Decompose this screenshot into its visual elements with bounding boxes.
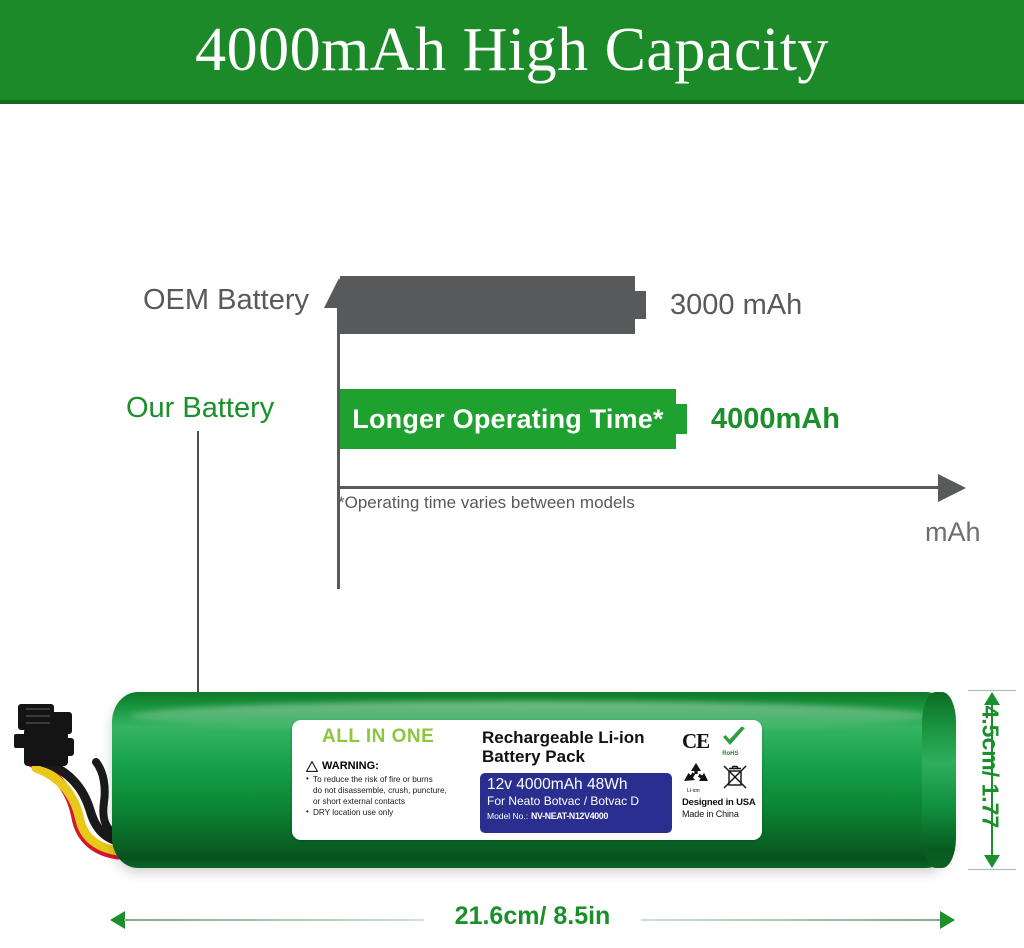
designed-in-label: Designed in USA <box>682 797 760 808</box>
weee-crossed-bin-icon <box>722 764 748 790</box>
spec-capacity: 12v 4000mAh 48Wh <box>487 776 666 794</box>
spec-compatibility: For Neato Botvac / Botvac D <box>487 794 666 809</box>
product-title-line1: Rechargeable Li-ion <box>482 728 644 747</box>
callout-leader-line <box>197 431 199 708</box>
dimension-height-arrow-top-icon <box>984 692 1000 705</box>
made-in-label: Made in China <box>682 809 760 819</box>
certification-marks: CE RoHS <box>682 726 760 838</box>
model-label: Model No.: <box>487 811 528 821</box>
chart-bar-our-body: Longer Operating Time* <box>340 389 676 449</box>
warning-line: or short external contacts <box>313 797 472 808</box>
dimension-height-arrow-bottom-icon <box>984 855 1000 868</box>
warning-heading-text: WARNING: <box>322 761 379 772</box>
capacity-comparison-chart: OEM Battery 3000 mAh Our Battery Longer … <box>0 104 1024 574</box>
dimension-height-label: 4.5cm/ 1.77 <box>977 706 1004 826</box>
recycle-icon <box>682 762 710 786</box>
warning-line: To reduce the risk of fire or burns <box>313 775 472 786</box>
rohs-mark: RoHS <box>719 726 749 756</box>
brand-label: ALL IN ONE <box>322 726 434 748</box>
warning-item: To reduce the risk of fire or burns do n… <box>306 775 472 807</box>
chart-footnote: *Operating time varies between models <box>338 493 635 513</box>
header-banner: 4000mAh High Capacity <box>0 0 1024 100</box>
ce-mark-icon: CE <box>682 731 709 752</box>
dimension-height: 4.5cm/ 1.77 <box>962 690 1022 870</box>
chart-x-axis <box>337 486 941 489</box>
model-number: NV-NEAT-N12V4000 <box>531 811 608 822</box>
dimension-length: 21.6cm/ 8.5in <box>110 900 955 940</box>
chart-bar-oem-body <box>340 276 635 334</box>
cert-row-bottom: Li-ion <box>682 762 760 792</box>
dimension-length-arrow-right-icon <box>940 911 955 929</box>
battery-right-cap <box>922 692 956 868</box>
recycle-label: Li-ion <box>687 788 700 794</box>
dimension-height-cap-top <box>968 690 1016 691</box>
product-title-line2: Battery Pack <box>482 747 644 766</box>
chart-category-label-our: Our Battery <box>126 394 274 423</box>
chart-value-label-oem: 3000 mAh <box>670 291 802 320</box>
rohs-check-icon <box>719 726 749 750</box>
battery-label-sticker: ALL IN ONE WARNING: To reduce the risk o… <box>292 720 762 840</box>
warning-triangle-icon <box>306 761 318 772</box>
warning-heading: WARNING: <box>306 761 472 772</box>
chart-bar-our-tip-icon <box>676 404 687 434</box>
dimension-length-label: 21.6cm/ 8.5in <box>110 902 955 931</box>
cert-row-top: CE RoHS <box>682 726 760 756</box>
page-title: 4000mAh High Capacity <box>195 19 829 81</box>
chart-bar-our-inner-label: Longer Operating Time* <box>340 404 676 435</box>
warning-list: To reduce the risk of fire or burns do n… <box>306 775 472 819</box>
chart-bar-oem: 3000 mAh <box>340 276 802 334</box>
warning-item: DRY location use only <box>306 808 472 819</box>
rohs-label: RoHS <box>722 751 738 757</box>
recycle-mark: Li-ion <box>682 762 712 792</box>
chart-axis-unit-label: mAh <box>925 517 981 548</box>
chart-category-label-oem: OEM Battery <box>143 286 309 315</box>
spec-model: Model No.: NV-NEAT-N12V4000 <box>487 811 666 822</box>
product-title: Rechargeable Li-ion Battery Pack <box>482 728 644 766</box>
battery-body: ALL IN ONE WARNING: To reduce the risk o… <box>112 692 952 868</box>
warning-line: DRY location use only <box>313 808 472 819</box>
chart-value-label-our: 4000mAh <box>711 405 840 434</box>
chart-bar-our: Longer Operating Time* 4000mAh <box>340 389 840 449</box>
chart-x-axis-arrow-icon <box>938 474 966 502</box>
chart-bar-oem-tip-icon <box>635 291 646 319</box>
warning-line: do not disassemble, crush, puncture, <box>313 786 472 797</box>
dimension-height-cap-bottom <box>968 869 1016 870</box>
spec-box: 12v 4000mAh 48Wh For Neato Botvac / Botv… <box>480 773 672 833</box>
warning-block: WARNING: To reduce the risk of fire or b… <box>306 761 472 820</box>
dimension-length-line-right <box>641 919 941 921</box>
